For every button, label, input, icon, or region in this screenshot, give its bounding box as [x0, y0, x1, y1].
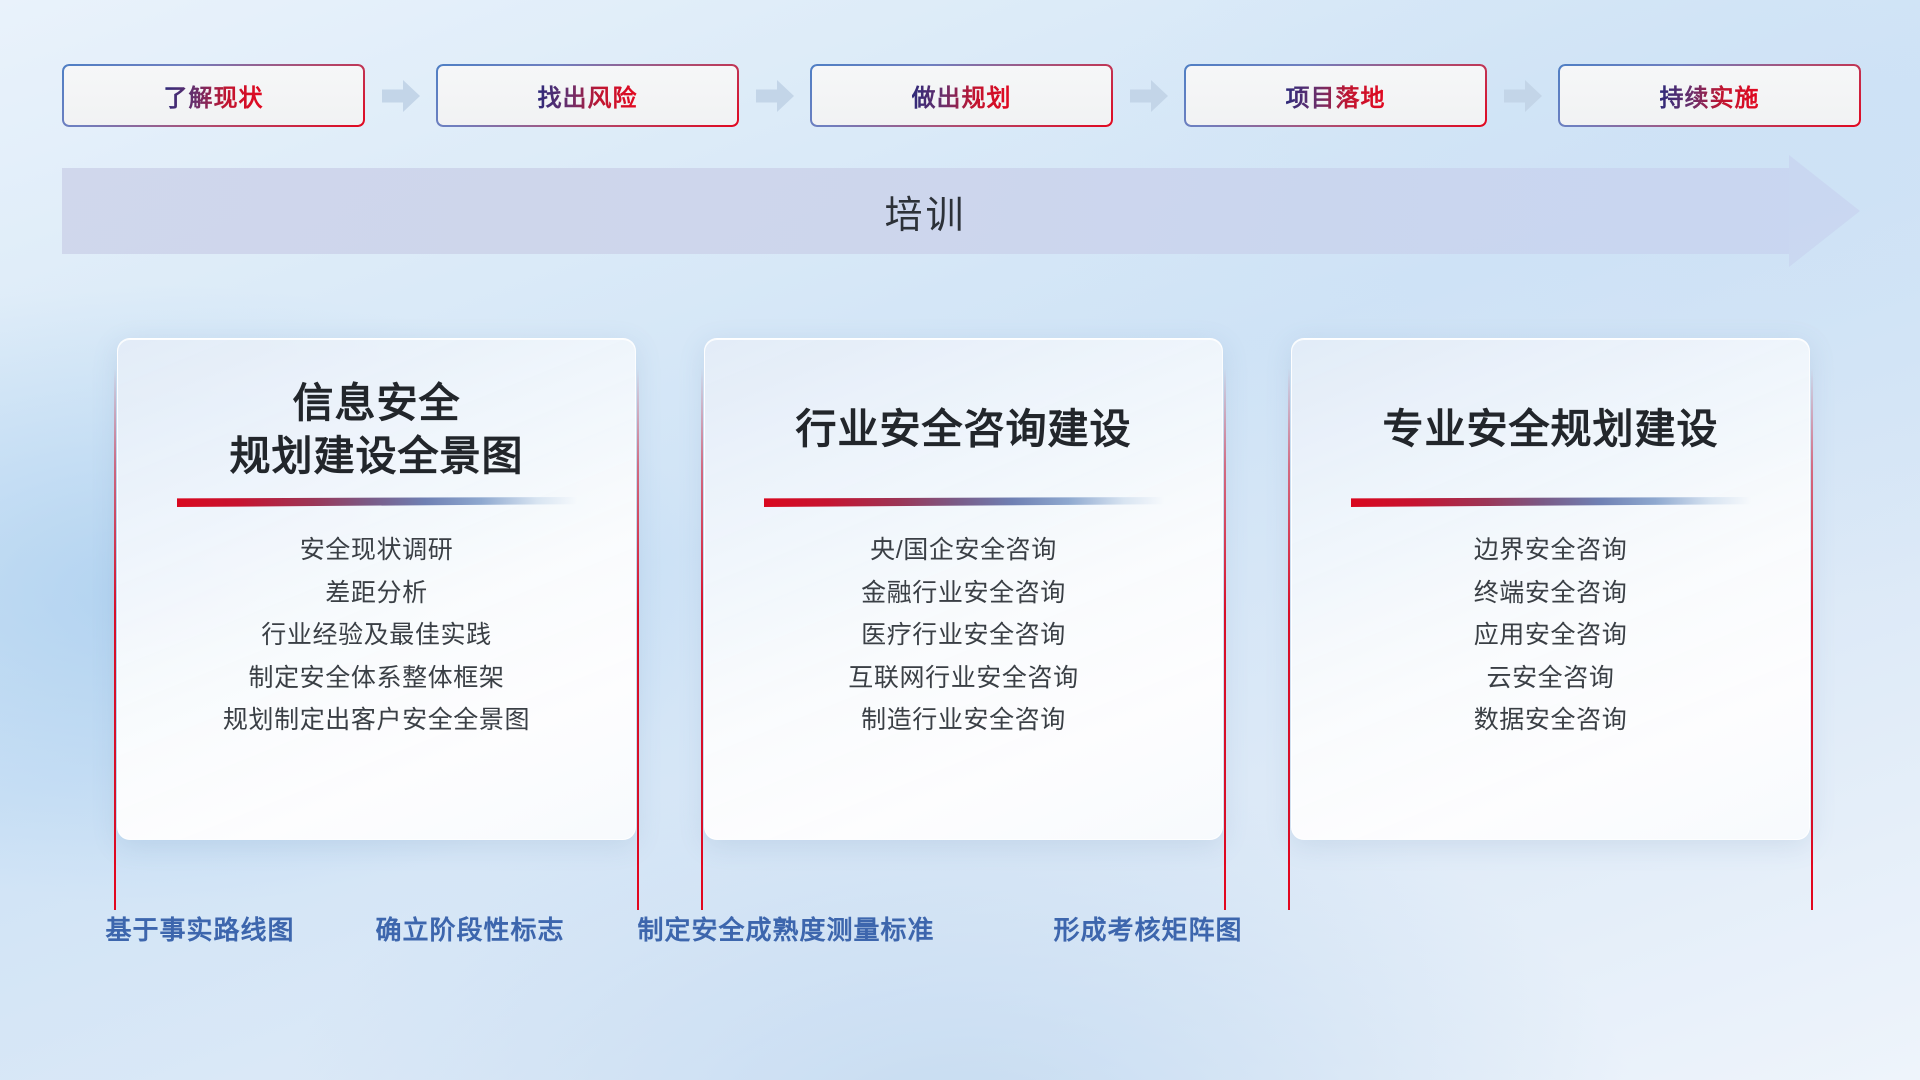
- process-step-label: 找出风险: [538, 78, 638, 113]
- card-3-wrapper: 专业安全规划建设边界安全咨询终端安全咨询应用安全咨询云安全咨询数据安全咨询: [1288, 338, 1813, 878]
- process-step-label: 项目落地: [1286, 78, 1386, 113]
- training-banner-title: 培训: [62, 168, 1789, 254]
- card-2-title: 行业安全咨询建设: [796, 375, 1132, 485]
- card-3-divider: [1351, 497, 1751, 507]
- list-item[interactable]: 制造行业安全咨询: [705, 699, 1222, 742]
- footer-label-row: 基于事实路线图确立阶段性标志制定安全成熟度测量标准形成考核矩阵图: [0, 910, 1920, 956]
- card-3[interactable]: 专业安全规划建设边界安全咨询终端安全咨询应用安全咨询云安全咨询数据安全咨询: [1291, 338, 1810, 840]
- card-2[interactable]: 行业安全咨询建设央/国企安全咨询金融行业安全咨询医疗行业安全咨询互联网行业安全咨…: [704, 338, 1223, 840]
- list-item[interactable]: 医疗行业安全咨询: [705, 614, 1222, 657]
- process-step-4[interactable]: 项目落地: [1184, 64, 1487, 127]
- arrow-right-icon: [1113, 64, 1184, 127]
- process-step-label: 了解现状: [164, 78, 264, 113]
- arrow-right-icon: [739, 64, 810, 127]
- card-row: 信息安全规划建设全景图安全现状调研差距分析行业经验及最佳实践制定安全体系整体框架…: [114, 338, 1814, 878]
- card-1[interactable]: 信息安全规划建设全景图安全现状调研差距分析行业经验及最佳实践制定安全体系整体框架…: [117, 338, 636, 840]
- list-item[interactable]: 规划制定出客户安全全景图: [118, 699, 635, 742]
- process-step-label: 持续实施: [1660, 78, 1760, 113]
- list-item[interactable]: 差距分析: [118, 572, 635, 615]
- card-1-wrapper: 信息安全规划建设全景图安全现状调研差距分析行业经验及最佳实践制定安全体系整体框架…: [114, 338, 639, 878]
- card-divider-bar: [764, 497, 1164, 507]
- training-banner-arrow-tip-icon: [1789, 155, 1860, 267]
- card-3-list: 边界安全咨询终端安全咨询应用安全咨询云安全咨询数据安全咨询: [1292, 529, 1809, 742]
- list-item[interactable]: 安全现状调研: [118, 529, 635, 572]
- list-item[interactable]: 数据安全咨询: [1292, 699, 1809, 742]
- card-divider-bar: [1351, 497, 1751, 507]
- card-1-title: 信息安全规划建设全景图: [230, 375, 524, 485]
- list-item[interactable]: 云安全咨询: [1292, 657, 1809, 700]
- card-title-line: 信息安全: [230, 377, 524, 430]
- footer-label-4: 形成考核矩阵图: [1053, 910, 1242, 947]
- card-2-divider: [764, 497, 1164, 507]
- process-step-row: 了解现状找出风险做出规划项目落地持续实施: [62, 64, 1862, 127]
- card-1-divider: [177, 497, 577, 507]
- list-item[interactable]: 金融行业安全咨询: [705, 572, 1222, 615]
- card-divider-bar: [177, 497, 577, 507]
- list-item[interactable]: 制定安全体系整体框架: [118, 657, 635, 700]
- card-2-list: 央/国企安全咨询金融行业安全咨询医疗行业安全咨询互联网行业安全咨询制造行业安全咨…: [705, 529, 1222, 742]
- process-step-5[interactable]: 持续实施: [1558, 64, 1861, 127]
- arrow-right-icon: [365, 64, 436, 127]
- slide-canvas: 了解现状找出风险做出规划项目落地持续实施 培训 信息安全规划建设全景图安全现状调…: [0, 0, 1920, 1080]
- list-item[interactable]: 互联网行业安全咨询: [705, 657, 1222, 700]
- card-title-line: 规划建设全景图: [230, 430, 524, 483]
- training-banner: 培训: [62, 168, 1860, 254]
- list-item[interactable]: 边界安全咨询: [1292, 529, 1809, 572]
- footer-label-3: 制定安全成熟度测量标准: [637, 910, 934, 947]
- arrow-right-icon: [1487, 64, 1558, 127]
- card-title-line: 行业安全咨询建设: [796, 403, 1132, 456]
- list-item[interactable]: 应用安全咨询: [1292, 614, 1809, 657]
- list-item[interactable]: 央/国企安全咨询: [705, 529, 1222, 572]
- footer-label-1: 基于事实路线图: [105, 910, 294, 947]
- list-item[interactable]: 行业经验及最佳实践: [118, 614, 635, 657]
- process-step-2[interactable]: 找出风险: [436, 64, 739, 127]
- card-1-list: 安全现状调研差距分析行业经验及最佳实践制定安全体系整体框架规划制定出客户安全全景…: [118, 529, 635, 742]
- card-title-line: 专业安全规划建设: [1383, 403, 1719, 456]
- process-step-1[interactable]: 了解现状: [62, 64, 365, 127]
- card-2-wrapper: 行业安全咨询建设央/国企安全咨询金融行业安全咨询医疗行业安全咨询互联网行业安全咨…: [701, 338, 1226, 878]
- card-3-title: 专业安全规划建设: [1383, 375, 1719, 485]
- list-item[interactable]: 终端安全咨询: [1292, 572, 1809, 615]
- footer-label-2: 确立阶段性标志: [375, 910, 564, 947]
- process-step-label: 做出规划: [912, 78, 1012, 113]
- process-step-3[interactable]: 做出规划: [810, 64, 1113, 127]
